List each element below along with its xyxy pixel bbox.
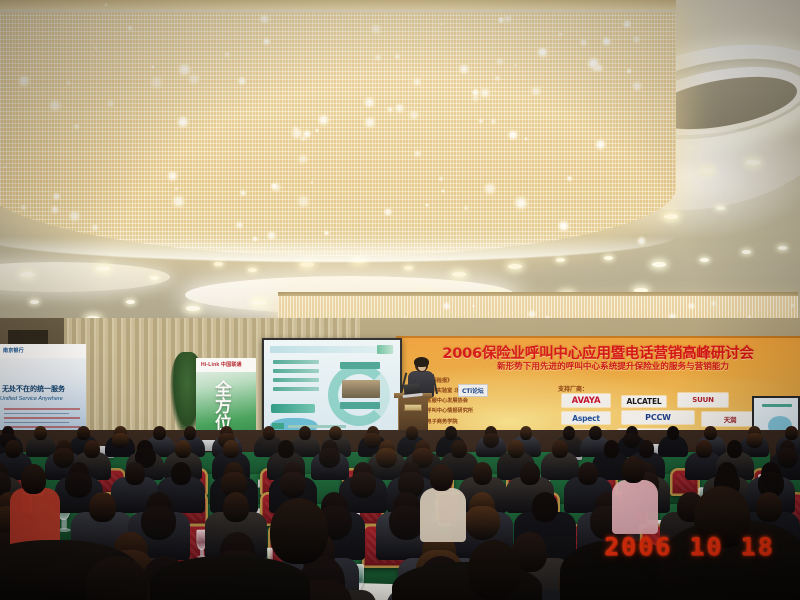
camera-date-stamp: 2006 10 18 [604, 532, 775, 561]
audience-head [77, 426, 90, 440]
conference-photo: 南京银行 无处不在的统一服务 Unified Service Anywhere … [0, 0, 800, 600]
audience-head [508, 440, 524, 458]
audience-head [278, 440, 294, 458]
audience-long-hair [746, 433, 763, 449]
organizer-line: 韩国呼叫中心情报研究所 [416, 406, 522, 416]
slide-logo [377, 345, 393, 354]
cti-forum-logo: CTi论坛 [458, 384, 488, 397]
audience-head [184, 426, 197, 440]
ceiling-downlight [556, 258, 565, 262]
ceiling-downlight [716, 206, 725, 210]
sponsor-logo-text: AVAYA [572, 396, 601, 406]
audience-head [175, 440, 191, 458]
slide-diagram-label-bottom [340, 402, 380, 409]
ceiling-downlight [150, 276, 159, 280]
audience-torso [420, 488, 466, 542]
audience-head [451, 440, 467, 458]
crystal-chandelier-main [0, 0, 676, 256]
ceiling-downlight [700, 258, 709, 262]
rollup-cn-text: 无处不在的统一服务 [2, 384, 65, 394]
audience-head [756, 492, 782, 522]
audience-head [299, 426, 312, 440]
audience-head [445, 426, 458, 440]
audience-head [622, 456, 645, 483]
audience-head [639, 440, 655, 458]
ceiling-downlight [186, 306, 200, 311]
ceiling-downlight [742, 250, 751, 254]
audience-long-hair [777, 448, 798, 468]
audience-head [520, 462, 540, 485]
ceiling-downlight [652, 262, 666, 267]
sponsor-logo: Aspect [562, 412, 610, 424]
sponsor-logo: SUUN [678, 393, 728, 407]
audience-head [89, 492, 115, 522]
audience-head [430, 464, 453, 491]
podium-laptop [403, 383, 420, 396]
audience-head [532, 492, 558, 522]
audience-head [696, 440, 712, 458]
audience-head [727, 440, 743, 458]
ceiling-downlight [778, 246, 787, 250]
sponsor-logo-text: SUUN [692, 396, 713, 404]
rollup-header: Hi-Link 中国联通 [196, 358, 256, 372]
audience-head [589, 426, 602, 440]
ceiling-downlight [214, 262, 223, 266]
speaker-hair [414, 357, 429, 367]
audience-head [223, 440, 239, 458]
sponsor-logo: AVAYA [562, 394, 610, 407]
podium-plaque [404, 404, 422, 411]
audience-head [704, 426, 717, 440]
audience-head [520, 426, 533, 440]
audience-torso [612, 480, 658, 534]
audience-head [604, 440, 620, 458]
audience-head [406, 426, 419, 440]
rollup-cn-text: 全方位 [212, 380, 230, 431]
ceiling-downlight [452, 272, 466, 277]
rollup-brand-logo: Hi-Link 中国联通 [201, 361, 242, 368]
ceiling-downlight [20, 272, 34, 277]
ceiling-downlight [126, 300, 135, 304]
audience-head [578, 462, 598, 485]
audience-long-hair [389, 506, 424, 541]
ceiling-downlight [30, 300, 39, 304]
rollup-en-text: Unified Service Anywhere [0, 396, 63, 402]
banner-subtitle: 新形势下用先进的呼叫中心系统提升保险业的服务与营销能力 [432, 360, 794, 372]
ceiling-downlight [404, 266, 413, 270]
sponsor-logo: PCCW [622, 411, 694, 424]
audience-head [263, 426, 276, 440]
audience-long-hair [65, 472, 92, 498]
sponsor-logo-text: 天润 [724, 414, 737, 424]
audience-head [563, 426, 576, 440]
slide-photo [342, 380, 380, 398]
slide-title-bar [270, 346, 394, 353]
ceiling-downlight [96, 266, 110, 271]
ceiling-downlight [700, 168, 714, 173]
audience-head [473, 462, 493, 485]
sponsors-label: 支持厂商： [558, 384, 588, 393]
sponsor-logo-text: PCCW [645, 413, 671, 422]
audience-head [21, 464, 46, 494]
audience-head [667, 426, 680, 440]
sponsor-logo: ALCATEL [622, 396, 666, 407]
slide-bullets [273, 360, 319, 396]
chandelier-rim-top [0, 0, 676, 12]
audience-head [5, 440, 21, 458]
ceiling-downlight [508, 264, 522, 269]
slide-diagram-label-top [340, 362, 380, 369]
audience-head [171, 462, 191, 485]
slide-line [762, 404, 792, 407]
organizer-line: 中国电子商务学院 [416, 417, 522, 427]
audience-head [34, 426, 47, 440]
slide-highlight-box [271, 404, 315, 413]
audience-head [84, 440, 100, 458]
audience-head [223, 492, 249, 522]
ceiling-downlight [252, 300, 266, 305]
rollup-header: 南京银行 [0, 344, 86, 358]
ceiling-downlight [746, 160, 760, 165]
ceiling-downlight [300, 262, 314, 267]
rollup-brand-logo: 南京银行 [3, 347, 24, 354]
audience-long-hair [141, 506, 176, 541]
audience-head [125, 462, 145, 485]
main-projection-screen [262, 338, 402, 436]
audience-head-foreground [270, 498, 328, 564]
audience-head-foreground [468, 540, 520, 600]
audience-head [552, 440, 568, 458]
audience-head [153, 426, 166, 440]
ceiling-downlight [248, 268, 257, 272]
sponsor-logo-text: ALCATEL [627, 397, 662, 406]
audience-head [329, 426, 342, 440]
audience-long-hair [112, 433, 129, 449]
ceiling-downlight [604, 256, 613, 260]
audience-head [785, 426, 798, 440]
audience-long-hair [465, 506, 500, 541]
sponsor-logo-text: Aspect [572, 414, 600, 423]
sponsor-logo: 天润 [702, 412, 758, 426]
audience-torso [10, 488, 60, 548]
